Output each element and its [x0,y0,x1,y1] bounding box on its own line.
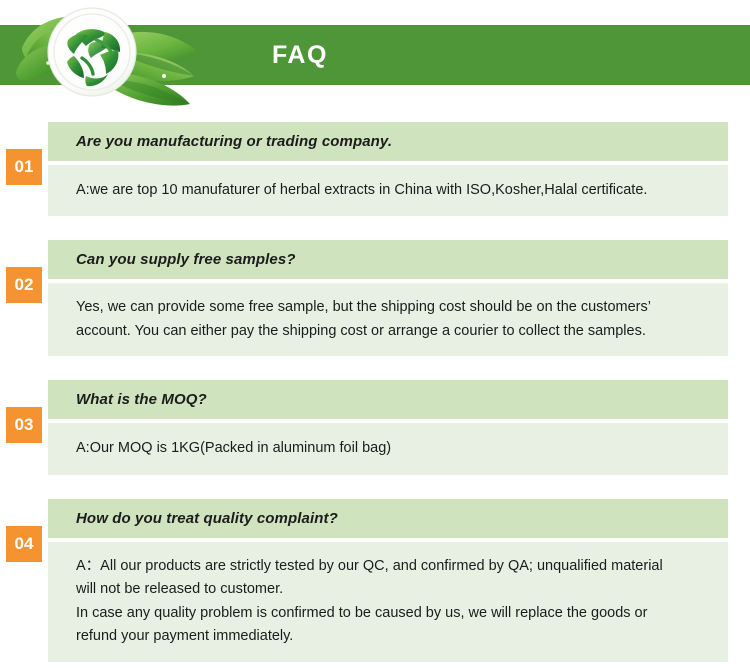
faq-item: 04 How do you treat quality complaint? A… [0,499,750,662]
faq-answer-line: In case any quality problem is confirmed… [76,602,714,625]
faq-number-badge: 01 [6,149,42,185]
faq-answer: A：All our products are strictly tested b… [48,542,728,662]
faq-number-badge: 02 [6,267,42,303]
faq-answer-line: refund your payment immediately. [76,625,714,648]
page-header: FAQ [0,0,750,122]
faq-question: What is the MOQ? [48,380,728,419]
faq-answer: A:we are top 10 manufaturer of herbal ex… [48,165,728,216]
faq-answer: Yes, we can provide some free sample, bu… [48,283,728,356]
faq-number-badge: 04 [6,526,42,562]
faq-answer: A:Our MOQ is 1KG(Packed in aluminum foil… [48,423,728,474]
faq-answer-line: account. You can either pay the shipping… [76,320,714,343]
faq-answer-line: A：All our products are strictly tested b… [76,555,714,578]
faq-question: How do you treat quality complaint? [48,499,728,538]
faq-answer-line: A:we are top 10 manufaturer of herbal ex… [76,179,714,202]
faq-answer-line: will not be released to customer. [76,578,714,601]
faq-item: 02 Can you supply free samples? Yes, we … [0,240,750,356]
page-title: FAQ [272,25,328,85]
faq-number-badge: 03 [6,407,42,443]
faq-item: 01 Are you manufacturing or trading comp… [0,122,750,216]
leaf-circle-logo-icon [8,0,223,118]
faq-question: Are you manufacturing or trading company… [48,122,728,161]
faq-answer-line: A:Our MOQ is 1KG(Packed in aluminum foil… [76,437,714,460]
faq-answer-line: Yes, we can provide some free sample, bu… [76,296,714,319]
faq-list: 01 Are you manufacturing or trading comp… [0,122,750,662]
faq-item: 03 What is the MOQ? A:Our MOQ is 1KG(Pac… [0,380,750,474]
faq-question: Can you supply free samples? [48,240,728,279]
